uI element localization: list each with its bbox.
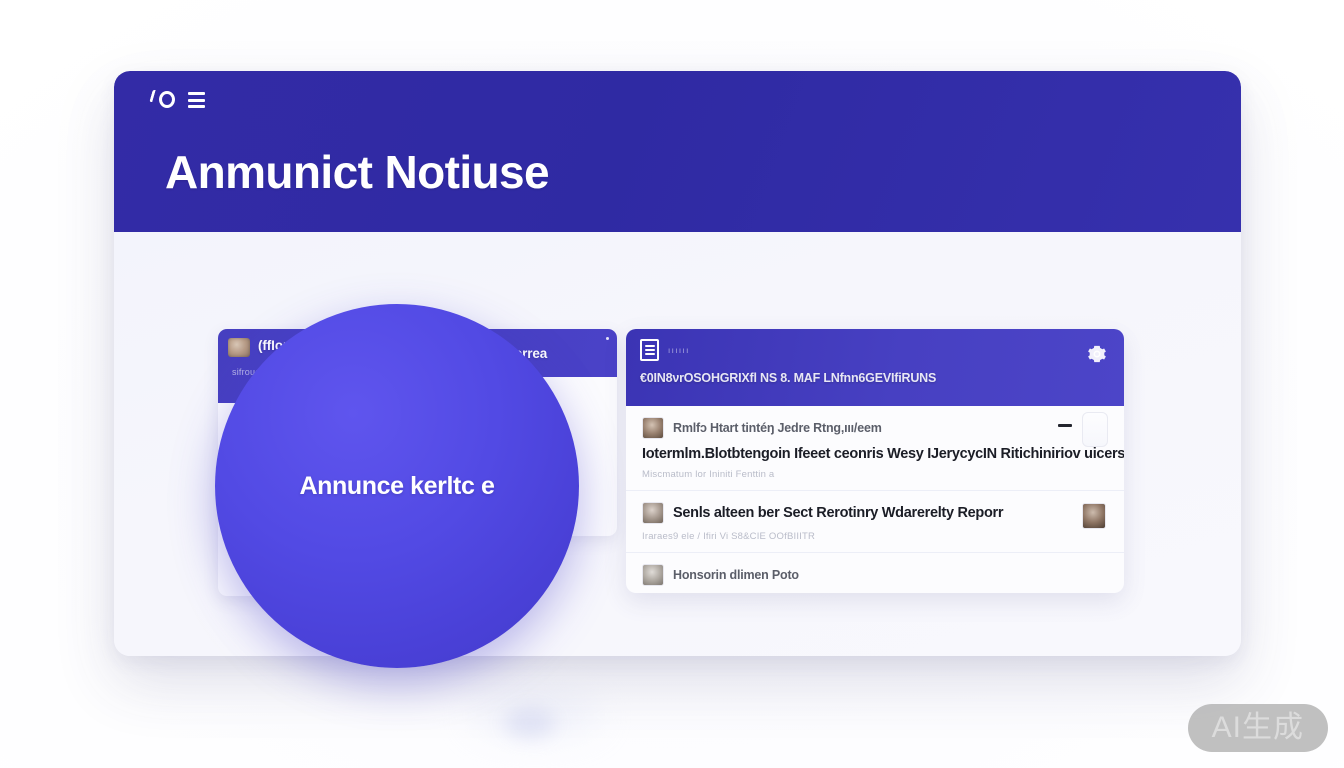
list-item[interactable]: Honsorin dlimen Poto Seninnd Proerltck C… xyxy=(626,553,1124,593)
ghost-placeholder-box xyxy=(1082,412,1108,447)
document-icon xyxy=(640,339,659,361)
ai-generated-watermark: AI生成 xyxy=(1188,704,1328,752)
row-thumbnail[interactable] xyxy=(1082,503,1106,529)
row-avatar xyxy=(642,502,664,524)
window-header: Anmunict Notiuse xyxy=(114,71,1241,232)
list-item[interactable]: Senls alteen ber Sect Rerotinry Wdarerel… xyxy=(626,491,1124,553)
list-item-subtitle: Iraraes9 ele / Ifiri Vi S8&CIE OOfBIIITR xyxy=(642,531,1108,542)
hamburger-menu-icon[interactable] xyxy=(188,92,205,108)
notifications-panel: ıııııı €0IN8νrOSOHGRIXfl NS 8. MAF LNfnn… xyxy=(626,329,1124,593)
notification-list: Rmlfɔ Htart tintéŋ Jedre Rtng,ııı/eem Io… xyxy=(626,406,1124,593)
minus-dash-icon[interactable] xyxy=(1058,424,1072,427)
list-item-meta: Honsorin dlimen Poto xyxy=(673,568,799,582)
status-dot xyxy=(606,337,609,340)
background-glow-inner xyxy=(505,708,555,738)
brand-row[interactable] xyxy=(151,88,205,112)
list-item-subtitle: Miscmatum lor Ininiti Fenttin a xyxy=(642,469,1108,480)
list-item[interactable]: Rmlfɔ Htart tintéŋ Jedre Rtng,ııı/eem Io… xyxy=(626,406,1124,491)
panel-title: €0IN8νrOSOHGRIXfl NS 8. MAF LNfnn6GEVIfi… xyxy=(640,371,1110,385)
panel-eyebrow: ıııııı xyxy=(668,346,690,355)
announcement-circle-overlay[interactable]: Annunce kerltc e xyxy=(215,304,579,668)
list-item-title: Iotermlm.Blotbtengoin Ifeeet ceonris Wes… xyxy=(642,446,1108,462)
announcement-circle-label: Annunce kerltc e xyxy=(299,472,494,501)
card-thumbnail-avatar xyxy=(228,338,250,357)
panel-header: ıııııı €0IN8νrOSOHGRIXfl NS 8. MAF LNfnn… xyxy=(626,329,1124,406)
row-avatar xyxy=(642,417,664,439)
percent-circle-logo[interactable] xyxy=(151,88,181,112)
list-item-meta: Rmlfɔ Htart tintéŋ Jedre Rtng,ııı/eem xyxy=(673,421,882,435)
page-title: Anmunict Notiuse xyxy=(165,145,549,199)
row-avatar xyxy=(642,564,664,586)
gear-icon[interactable] xyxy=(1086,343,1108,365)
list-item-title: Senls alteen ber Sect Rerotinry Wdarerel… xyxy=(673,505,1003,521)
screenshot-stage: Anmunict Notiuse (ffIonaĻhIen sifroucean… xyxy=(0,0,1344,768)
